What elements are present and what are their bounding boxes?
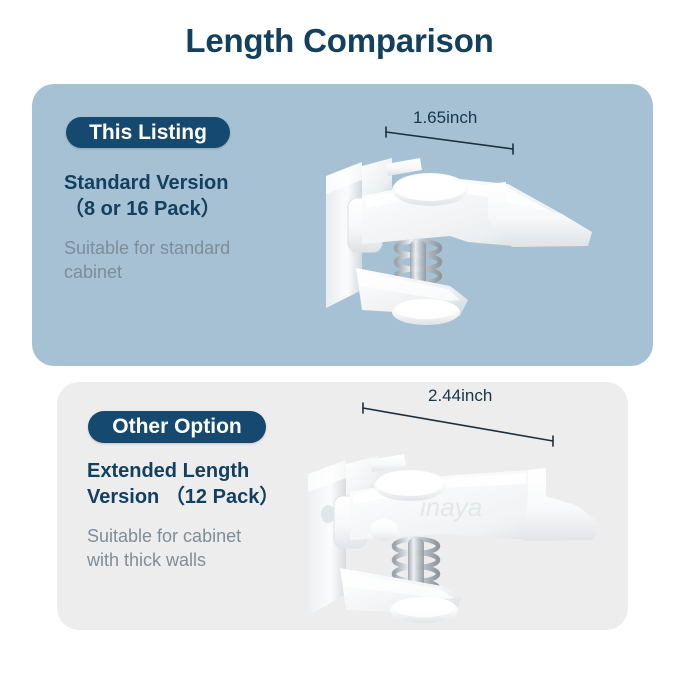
subcopy-standard: Suitable for standard cabinet [64, 236, 299, 285]
product-image-extended-latch: inaya [292, 430, 612, 630]
infographic-page: Length Comparison This Listing Standard … [0, 0, 679, 679]
badge-other-option: Other Option [88, 411, 266, 443]
dimension-label-standard: 1.65inch [413, 108, 477, 128]
badge-this-listing-label: This Listing [89, 121, 207, 145]
badge-other-option-label: Other Option [112, 415, 242, 439]
headline-standard: Standard Version （8 or 16 Pack） [64, 170, 314, 223]
product-image-standard-latch [300, 140, 600, 345]
badge-this-listing: This Listing [66, 117, 230, 148]
page-title: Length Comparison [0, 22, 679, 60]
dimension-label-extended: 2.44inch [428, 386, 492, 406]
